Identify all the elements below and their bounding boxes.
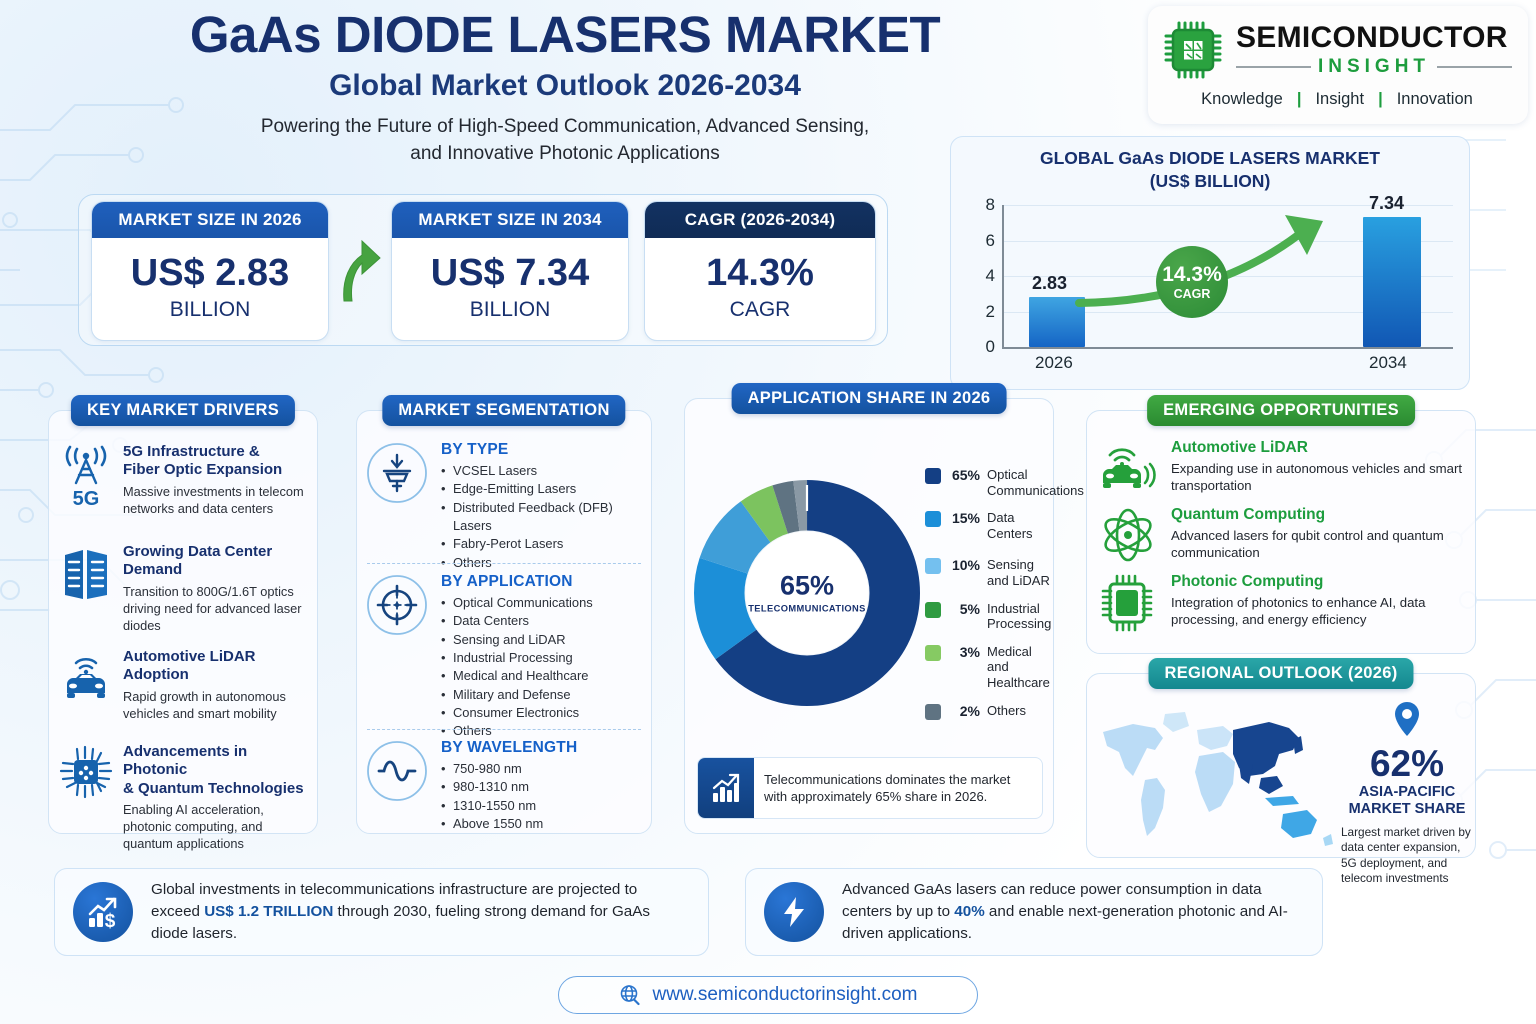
list-item: 750-980 nm: [441, 760, 647, 778]
y-axis: [1002, 205, 1004, 347]
growth-dollar-icon: $: [85, 894, 121, 930]
chart-title-main: GLOBAL GaAs DIODE LASERS MARKET: [951, 147, 1469, 170]
segmentation-title: BY TYPE: [441, 441, 647, 459]
logo-subwordmark: INSIGHT: [1318, 56, 1430, 78]
y-tick-label-8: 8: [971, 195, 995, 215]
cagr-bubble: 14.3% CAGR: [1156, 246, 1228, 318]
data-center-icon: [61, 545, 111, 603]
appshare-note: Telecommunications dominates the market …: [697, 757, 1043, 819]
regional-label-line-1: ASIA-PACIFIC: [1339, 784, 1475, 801]
legend-percent: 10%: [948, 557, 980, 573]
logo-wordmark: SEMICONDUCTOR: [1236, 23, 1512, 53]
driver-title-line-1: Automotive LiDAR: [123, 648, 309, 666]
legend-percent: 5%: [948, 601, 980, 617]
list-item: Others: [441, 722, 647, 740]
segmentation-group-by-type: BY TYPE VCSEL Lasers Edge-Emitting Laser…: [365, 441, 647, 572]
kpi-header: MARKET SIZE IN 2034: [392, 202, 628, 238]
donut-center-label: 65% TELECOMMUNICATIONS: [746, 532, 869, 655]
legend-swatch: [925, 511, 941, 527]
driver-title-line-2: Fiber Optic Expansion: [123, 461, 309, 479]
list-item: 1310-1550 nm: [441, 797, 647, 815]
driver-title-line-2: Demand: [123, 561, 309, 579]
logo-text-block: SEMICONDUCTOR INSIGHT: [1236, 23, 1512, 78]
legend-label: Optical Communications: [987, 467, 1084, 498]
legend-percent: 2%: [948, 703, 980, 719]
segmentation-text: BY WAVELENGTH 750-980 nm 980-1310 nm 131…: [441, 739, 647, 833]
segmentation-list: 750-980 nm 980-1310 nm 1310-1550 nm Abov…: [441, 760, 647, 833]
y-tick-label-2: 2: [971, 302, 995, 322]
legend-item-data-centers: 15% Data Centers: [925, 510, 1053, 541]
kpi-card-market-size-2034: MARKET SIZE IN 2034 US$ 7.34 BILLION: [391, 201, 629, 341]
list-item: Military and Defense: [441, 686, 647, 704]
x-tick-label-2026: 2026: [1035, 353, 1073, 373]
driver-icon-wrap: [59, 743, 113, 852]
list-item: Sensing and LiDAR: [441, 631, 647, 649]
kpi-unit: CAGR: [645, 298, 875, 322]
globe-search-icon: [618, 983, 642, 1007]
kpi-value: 14.3%: [645, 252, 875, 295]
legend-label: Others: [987, 703, 1026, 719]
legend-swatch: [925, 468, 941, 484]
donut-center-caption: TELECOMMUNICATIONS: [748, 604, 866, 614]
world-map-svg: [1093, 702, 1339, 854]
emerging-opportunities-panel: EMERGING OPPORTUNITIES Automotive LiDA: [1086, 410, 1476, 654]
legend-label: Medical and Healthcare: [987, 644, 1053, 691]
legend-item-sensing-lidar: 10% Sensing and LiDAR: [925, 557, 1053, 588]
driver-title: Advancements in Photonic & Quantum Techn…: [123, 743, 309, 798]
footer-text: Global investments in telecommunications…: [151, 879, 690, 945]
kpi-row: MARKET SIZE IN 2026 US$ 2.83 BILLION MAR…: [78, 194, 888, 346]
segmentation-group-by-application: BY APPLICATION Optical Communications Da…: [365, 573, 647, 741]
legend-swatch: [925, 704, 941, 720]
legend-label: Industrial Processing: [987, 601, 1053, 632]
driver-desc: Massive investments in telecom networks …: [123, 483, 309, 517]
segmentation-title: BY APPLICATION: [441, 573, 647, 591]
legend-swatch: [925, 558, 941, 574]
growth-arrow-icon: [332, 227, 390, 309]
driver-title-line-2: & Quantum Technologies: [123, 780, 309, 798]
map-region-india: [1239, 764, 1253, 784]
logo-row: SEMICONDUCTOR INSIGHT: [1162, 19, 1512, 81]
list-item: Industrial Processing: [441, 649, 647, 667]
note-icon-wrap: [698, 758, 754, 818]
driver-title-line-1: 5G Infrastructure &: [123, 443, 309, 461]
regional-desc: Largest market driven by data center exp…: [1339, 825, 1475, 887]
segmentation-list: VCSEL Lasers Edge-Emitting Lasers Distri…: [441, 462, 647, 572]
x-tick-label-2034: 2034: [1369, 353, 1407, 373]
legend-item-optical-communications: 65% Optical Communications: [925, 467, 1053, 498]
bar-label-2026: 2.83: [1032, 273, 1067, 294]
kpi-unit: BILLION: [92, 298, 328, 322]
legend-label: Data Centers: [987, 510, 1053, 541]
logo-tag-innovation: Innovation: [1397, 90, 1473, 109]
appshare-badge: APPLICATION SHARE IN 2026: [732, 383, 1007, 414]
bolt-icon: [777, 895, 811, 929]
footer-text-highlight: US$ 1.2 TRILLION: [204, 903, 333, 920]
photonic-chip-icon: [59, 745, 113, 799]
map-region-africa: [1195, 752, 1235, 812]
driver-text: 5G Infrastructure & Fiber Optic Expansio…: [123, 443, 309, 517]
logo-rule-left: [1236, 66, 1311, 68]
segmentation-list: Optical Communications Data Centers Sens…: [441, 594, 647, 741]
list-item: Edge-Emitting Lasers: [441, 480, 647, 498]
donut-center-value: 65%: [780, 573, 834, 600]
regional-outlook-panel: REGIONAL OUTLOOK (2026) 6: [1086, 673, 1476, 858]
brand-logo-card: SEMICONDUCTOR INSIGHT Knowledge | Insigh…: [1148, 6, 1528, 124]
growth-curve-arrow-icon: [1071, 203, 1411, 323]
chart-title-sub: (US$ BILLION): [951, 170, 1469, 193]
driver-text: Automotive LiDAR Adoption Rapid growth i…: [123, 648, 309, 722]
location-pin-icon: [1392, 700, 1422, 738]
opportunity-icon-wrap: [1095, 506, 1161, 564]
svg-text:5G: 5G: [73, 488, 100, 507]
atom-icon: [1099, 506, 1157, 564]
y-tick-label-4: 4: [971, 266, 995, 286]
kpi-card-cagr: CAGR (2026-2034) 14.3% CAGR: [644, 201, 876, 341]
laser-diode-icon: [365, 441, 429, 505]
page-subtitle: Global Market Outlook 2026-2034: [0, 69, 1130, 103]
map-region-europe: [1197, 726, 1233, 750]
legend-percent: 3%: [948, 644, 980, 660]
donut-legend: 65% Optical Communications 15% Data Cent…: [925, 467, 1053, 732]
driver-desc: Rapid growth in autonomous vehicles and …: [123, 688, 309, 722]
note-text: Telecommunications dominates the market …: [754, 771, 1042, 806]
driver-item-5g: 5G 5G Infrastructure & Fiber Optic Expan…: [59, 443, 309, 517]
kpi-header: CAGR (2026-2034): [645, 202, 875, 238]
list-item: 980-1310 nm: [441, 778, 647, 796]
footer-icon-wrap: $: [73, 882, 133, 942]
driver-title-line-1: Growing Data Center: [123, 543, 309, 561]
legend-swatch: [925, 602, 941, 618]
map-region-south-america: [1141, 778, 1165, 836]
cagr-bubble-label: CAGR: [1174, 287, 1211, 301]
legend-label: Sensing and LiDAR: [987, 557, 1053, 588]
driver-title-line-1: Advancements in Photonic: [123, 743, 309, 780]
footer-text: Advanced GaAs lasers can reduce power co…: [842, 879, 1304, 945]
5g-tower-icon: 5G: [60, 445, 112, 507]
website-url-pill[interactable]: www.semiconductorinsight.com: [558, 976, 978, 1014]
driver-title-line-2: Adoption: [123, 666, 309, 684]
chart-plot-area: 8 6 4 2 0 2.83 2026 7.34 2034 14.3% CAGR: [951, 195, 1471, 391]
map-region-australia: [1281, 810, 1317, 838]
opportunity-item-photonic-computing: Photonic Computing Integration of photon…: [1095, 573, 1469, 633]
segmentation-icon-wrap: [365, 441, 431, 572]
opportunity-icon-wrap: [1095, 573, 1161, 633]
list-item: Optical Communications: [441, 594, 647, 612]
segmentation-icon-wrap: [365, 573, 431, 741]
driver-text: Advancements in Photonic & Quantum Techn…: [123, 743, 309, 852]
logo-tag-knowledge: Knowledge: [1201, 90, 1283, 109]
driver-text: Growing Data Center Demand Transition to…: [123, 543, 309, 634]
opportunity-desc: Integration of photonics to enhance AI, …: [1171, 594, 1469, 629]
footer-card-power-savings: Advanced GaAs lasers can reduce power co…: [745, 868, 1323, 956]
regional-label: ASIA-PACIFIC MARKET SHARE: [1339, 784, 1475, 819]
opportunities-badge: EMERGING OPPORTUNITIES: [1147, 395, 1415, 426]
opportunity-title: Photonic Computing: [1171, 573, 1469, 592]
legend-percent: 15%: [948, 510, 980, 526]
waveform-icon: [365, 739, 429, 803]
market-growth-chart: GLOBAL GaAs DIODE LASERS MARKET (US$ BIL…: [950, 136, 1470, 390]
footer-icon-wrap: [764, 882, 824, 942]
driver-title: Automotive LiDAR Adoption: [123, 648, 309, 685]
car-lidar-icon: [59, 650, 113, 702]
driver-icon-wrap: [59, 648, 113, 722]
footer-text-highlight: 40%: [954, 903, 984, 920]
chip-logo-icon: [1162, 19, 1224, 81]
target-icon: [365, 573, 429, 637]
driver-icon-wrap: [59, 543, 113, 634]
legend-item-medical-healthcare: 3% Medical and Healthcare: [925, 644, 1053, 691]
segmentation-text: BY TYPE VCSEL Lasers Edge-Emitting Laser…: [441, 441, 647, 572]
page-title: GaAs DIODE LASERS MARKET: [0, 8, 1130, 62]
segmentation-group-by-wavelength: BY WAVELENGTH 750-980 nm 980-1310 nm 131…: [365, 739, 647, 833]
map-region-greenland: [1163, 712, 1189, 732]
legend-item-others: 2% Others: [925, 703, 1053, 720]
logo-taglines: Knowledge | Insight | Innovation: [1162, 90, 1512, 109]
driver-item-photonic-quantum: Advancements in Photonic & Quantum Techn…: [59, 743, 309, 852]
list-item: Medical and Healthcare: [441, 667, 647, 685]
website-url-text: www.semiconductorinsight.com: [652, 984, 917, 1006]
y-tick-label-0: 0: [971, 337, 995, 357]
opportunity-item-automotive-lidar: Automotive LiDAR Expanding use in autono…: [1095, 439, 1469, 494]
key-market-drivers-panel: KEY MARKET DRIVERS 5G 5G Infrastructure …: [48, 410, 318, 834]
opportunity-icon-wrap: [1095, 439, 1161, 494]
list-item: Fabry-Perot Lasers: [441, 535, 647, 553]
x-axis: [1002, 347, 1453, 349]
kpi-value: US$ 2.83: [92, 252, 328, 295]
map-region-north-america: [1103, 724, 1163, 776]
regional-stat: 62% ASIA-PACIFIC MARKET SHARE Largest ma…: [1339, 700, 1475, 887]
opportunity-desc: Expanding use in autonomous vehicles and…: [1171, 460, 1469, 495]
logo-rule-right: [1437, 66, 1512, 68]
segmentation-badge: MARKET SEGMENTATION: [382, 395, 625, 426]
kpi-unit: BILLION: [392, 298, 628, 322]
legend-item-industrial-processing: 5% Industrial Processing: [925, 601, 1053, 632]
driver-desc: Transition to 800G/1.6T optics driving n…: [123, 583, 309, 634]
cagr-bubble-value: 14.3%: [1162, 264, 1222, 285]
opportunity-title: Quantum Computing: [1171, 506, 1469, 525]
logo-tag-separator-2: |: [1378, 90, 1383, 109]
regional-label-line-2: MARKET SHARE: [1339, 801, 1475, 818]
growth-bars-icon: [709, 771, 743, 805]
regional-badge: REGIONAL OUTLOOK (2026): [1148, 658, 1413, 689]
opportunity-desc: Advanced lasers for qubit control and qu…: [1171, 527, 1469, 562]
driver-item-data-center: Growing Data Center Demand Transition to…: [59, 543, 309, 634]
segmentation-title: BY WAVELENGTH: [441, 739, 647, 757]
kpi-card-market-size-2026: MARKET SIZE IN 2026 US$ 2.83 BILLION: [91, 201, 329, 341]
logo-subwordmark-row: INSIGHT: [1236, 56, 1512, 78]
driver-item-automotive-lidar: Automotive LiDAR Adoption Rapid growth i…: [59, 648, 309, 722]
chip-icon: [1099, 573, 1157, 633]
list-item: Consumer Electronics: [441, 704, 647, 722]
driver-title: Growing Data Center Demand: [123, 543, 309, 580]
opportunity-text: Photonic Computing Integration of photon…: [1171, 573, 1469, 633]
application-share-panel: APPLICATION SHARE IN 2026 65% TELECOMMUN…: [684, 398, 1054, 834]
chart-title: GLOBAL GaAs DIODE LASERS MARKET (US$ BIL…: [951, 147, 1469, 193]
application-share-donut-chart: 65% TELECOMMUNICATIONS: [691, 477, 923, 709]
map-region-indonesia: [1265, 796, 1299, 806]
drivers-badge: KEY MARKET DRIVERS: [71, 395, 295, 426]
opportunity-text: Automotive LiDAR Expanding use in autono…: [1171, 439, 1469, 494]
legend-percent: 65%: [948, 467, 980, 483]
map-region-new-zealand: [1323, 834, 1333, 846]
driver-title: 5G Infrastructure & Fiber Optic Expansio…: [123, 443, 309, 480]
segmentation-text: BY APPLICATION Optical Communications Da…: [441, 573, 647, 741]
segmentation-icon-wrap: [365, 739, 431, 833]
kpi-value: US$ 7.34: [392, 252, 628, 295]
footer-card-investments: $ Global investments in telecommunicatio…: [54, 868, 709, 956]
world-map: [1093, 702, 1339, 854]
kpi-header: MARKET SIZE IN 2026: [92, 202, 328, 238]
opportunity-item-quantum-computing: Quantum Computing Advanced lasers for qu…: [1095, 506, 1469, 564]
market-segmentation-panel: MARKET SEGMENTATION BY TYPE VCSEL Lasers…: [356, 410, 652, 834]
legend-swatch: [925, 645, 941, 661]
driver-desc: Enabling AI acceleration, photonic compu…: [123, 801, 309, 852]
map-region-se-asia: [1259, 776, 1283, 794]
y-tick-label-6: 6: [971, 231, 995, 251]
opportunity-text: Quantum Computing Advanced lasers for qu…: [1171, 506, 1469, 564]
segmentation-divider-2: [367, 729, 641, 730]
regional-percent: 62%: [1339, 745, 1475, 782]
list-item: Data Centers: [441, 612, 647, 630]
car-signal-icon: [1098, 439, 1158, 493]
driver-icon-wrap: 5G: [59, 443, 113, 517]
list-item: Distributed Feedback (DFB) Lasers: [441, 499, 647, 536]
logo-tag-insight: Insight: [1315, 90, 1364, 109]
opportunity-title: Automotive LiDAR: [1171, 439, 1469, 458]
segmentation-divider-1: [367, 563, 641, 564]
svg-text:$: $: [105, 911, 116, 930]
logo-tag-separator-1: |: [1297, 90, 1302, 109]
list-item: Above 1550 nm: [441, 815, 647, 833]
list-item: VCSEL Lasers: [441, 462, 647, 480]
